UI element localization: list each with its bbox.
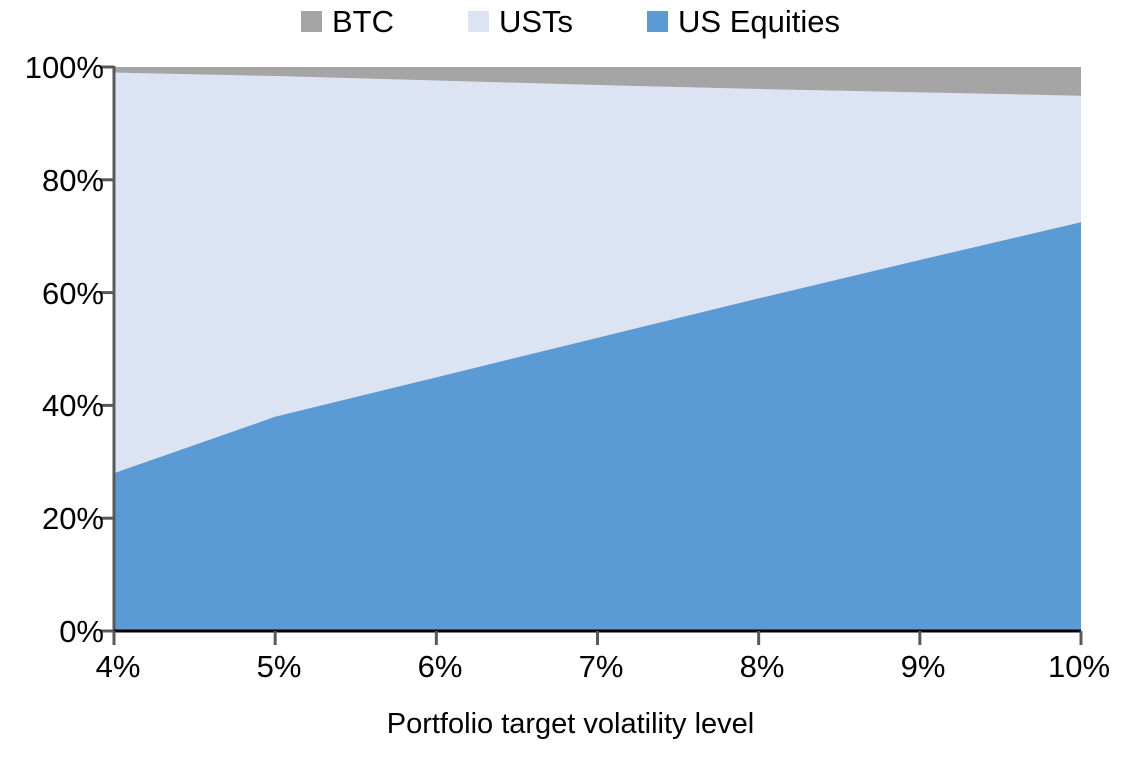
x-tick-9: 9% — [901, 651, 946, 682]
y-tick-40: 40% — [0, 390, 104, 421]
x-tick-10: 10% — [1048, 651, 1110, 682]
y-tick-60: 60% — [0, 278, 104, 309]
x-axis-title: Portfolio target volatility level — [0, 707, 1141, 741]
y-tick-100: 100% — [0, 52, 104, 83]
y-tick-80: 80% — [0, 165, 104, 196]
stacked-area-chart: BTC USTs US Equities 100% 80% 60% 40% 20… — [0, 0, 1141, 763]
x-tick-6: 6% — [418, 651, 463, 682]
y-tick-0: 0% — [0, 616, 104, 647]
x-tick-8: 8% — [740, 651, 785, 682]
y-axis-tick-labels: 100% 80% 60% 40% 20% 0% — [0, 0, 104, 763]
x-axis-tick-labels: 4% 5% 6% 7% 8% 9% 10% — [0, 651, 1141, 697]
x-tick-7: 7% — [579, 651, 624, 682]
x-tick-4: 4% — [96, 651, 141, 682]
y-tick-20: 20% — [0, 503, 104, 534]
x-tick-5: 5% — [257, 651, 302, 682]
plot-area — [0, 0, 1141, 763]
plot-svg — [0, 0, 1141, 763]
